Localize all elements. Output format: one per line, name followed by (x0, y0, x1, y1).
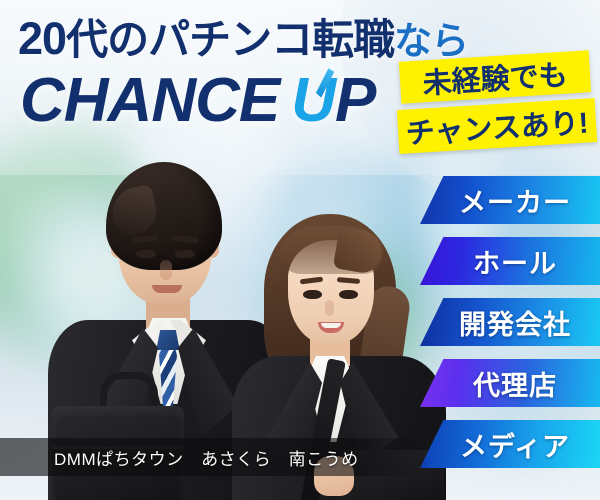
category-button-hall[interactable]: ホール (420, 237, 600, 285)
male-mouth (152, 285, 182, 293)
male-eye-left (136, 250, 156, 258)
category-label: 開発会社 (449, 303, 571, 342)
category-button-development-company[interactable]: 開発会社 (420, 298, 600, 346)
category-label: メディア (450, 425, 570, 464)
chance-up-logo: CHANCEUP (20, 70, 375, 132)
headline-main: 代のパチンコ転職 (66, 16, 394, 63)
badge-label: 未経験でも (421, 52, 568, 103)
headline-number: 20 (18, 13, 66, 64)
category-button-maker[interactable]: メーカー (420, 176, 600, 224)
category-label: 代理店 (463, 364, 557, 403)
badge-label: チャンスあり! (404, 99, 589, 152)
male-hair (106, 162, 222, 270)
female-bangs (280, 226, 384, 274)
caption-text: DMMぱちタウン あさくら 南こうめ (0, 445, 359, 470)
advertisement-banner: 20代のパチンコ転職なら CHANCEUP 未経験でも チャンスあり! メーカー… (0, 0, 600, 500)
category-button-media[interactable]: メディア (420, 420, 600, 468)
badge-no-experience: 未経験でも (399, 50, 591, 104)
male-nose (160, 260, 172, 280)
caption-strip: DMMぱちタウン あさくら 南こうめ (0, 438, 430, 476)
headline: 20代のパチンコ転職なら (18, 16, 468, 61)
male-eye-right (175, 250, 195, 258)
category-list: メーカー ホール 開発会社 代理店 メディア (420, 176, 600, 481)
category-button-agency[interactable]: 代理店 (420, 359, 600, 407)
logo-word-chance: CHANCE (20, 66, 279, 135)
logo-word-up: UP (291, 70, 375, 132)
logo-letter-p: P (335, 66, 375, 135)
promo-badges: 未経験でも チャンスあり! (398, 56, 598, 162)
category-label: メーカー (449, 181, 571, 220)
female-eye-left (303, 290, 322, 299)
category-label: ホール (463, 242, 557, 281)
female-nose (325, 300, 334, 316)
badge-chance-available: チャンスあり! (397, 98, 597, 154)
female-eye-right (339, 290, 358, 299)
